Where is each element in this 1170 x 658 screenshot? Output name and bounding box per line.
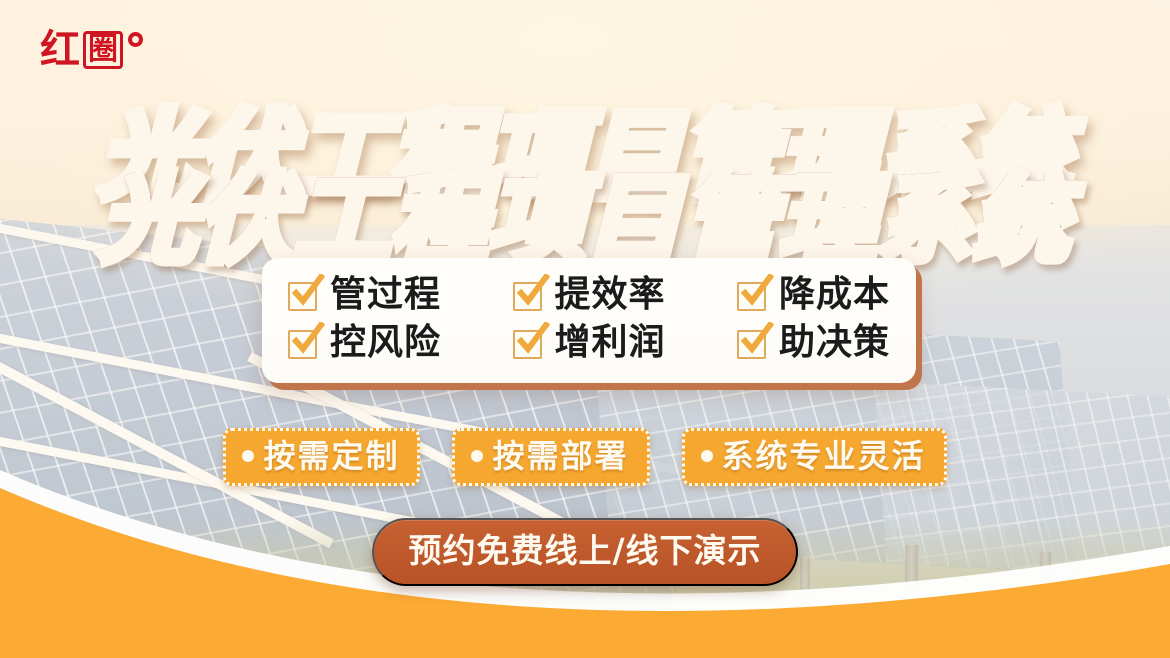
feature-label: 助决策 <box>779 322 890 364</box>
checkbox-checked-icon <box>288 327 321 360</box>
tag-professional-flexible[interactable]: 系统专业灵活 <box>682 428 947 486</box>
checkbox-checked-icon <box>288 279 321 312</box>
page-title: 光伏工程项目管理系统 <box>0 172 1170 268</box>
feature-item: 降成本 <box>689 274 890 316</box>
feature-card: 管过程 提效率 降成本 <box>262 258 916 383</box>
book-demo-button[interactable]: 预约免费线上/线下演示 <box>372 518 797 586</box>
feature-item: 控风险 <box>288 322 489 364</box>
feature-label: 管过程 <box>330 274 441 316</box>
feature-label: 增利润 <box>555 322 666 364</box>
feature-item: 管过程 <box>288 274 489 316</box>
bullet-dot-icon <box>242 450 254 462</box>
logo-char-quan: 圈 <box>83 31 123 69</box>
cta-container: 预约免费线上/线下演示 <box>0 518 1170 586</box>
logo-wordmark: 红 圈 <box>40 30 123 70</box>
checkbox-checked-icon <box>513 279 546 312</box>
brand-logo[interactable]: 红 圈 <box>40 30 143 70</box>
feature-item: 助决策 <box>689 322 890 364</box>
bullet-dot-icon <box>471 450 483 462</box>
tag-list: 按需定制 按需部署 系统专业灵活 <box>0 428 1170 486</box>
tag-label: 系统专业灵活 <box>722 436 926 476</box>
bullet-dot-icon <box>701 450 713 462</box>
feature-item: 提效率 <box>489 274 690 316</box>
cta-label: 预约免费线上/线下演示 <box>408 530 761 571</box>
checkbox-checked-icon <box>513 327 546 360</box>
tag-custom-made[interactable]: 按需定制 <box>223 428 420 486</box>
feature-item: 增利润 <box>489 322 690 364</box>
feature-label: 控风险 <box>330 322 441 364</box>
logo-char-hong: 红 <box>40 30 83 70</box>
feature-row: 管过程 提效率 降成本 <box>288 274 890 316</box>
promo-banner: 红 圈 光伏工程项目管理系统 光伏工程项目管理系统 管过程 提效率 <box>0 0 1170 658</box>
tag-label: 按需部署 <box>492 436 628 476</box>
checkbox-checked-icon <box>737 327 770 360</box>
feature-label: 提效率 <box>555 274 666 316</box>
feature-row: 控风险 增利润 助决策 <box>288 322 890 364</box>
tag-on-demand-deploy[interactable]: 按需部署 <box>452 428 649 486</box>
registered-circle-icon <box>128 32 143 47</box>
tag-label: 按需定制 <box>263 436 399 476</box>
checkbox-checked-icon <box>737 279 770 312</box>
feature-label: 降成本 <box>779 274 890 316</box>
